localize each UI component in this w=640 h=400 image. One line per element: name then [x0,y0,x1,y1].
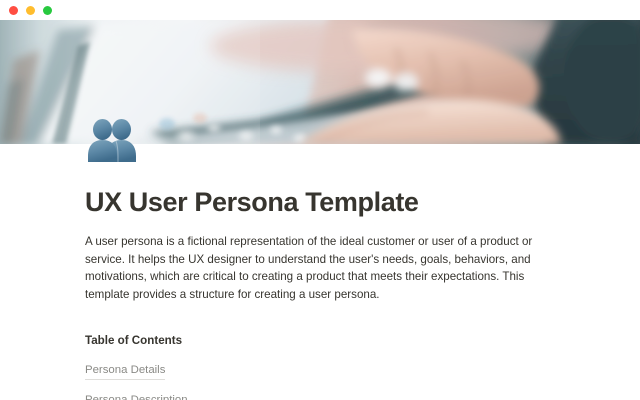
intro-paragraph: A user persona is a fictional representa… [85,233,555,303]
two-people-icon [85,118,139,162]
app-window: UX User Persona Template A user persona … [0,0,640,400]
close-button-icon[interactable] [9,6,18,15]
list-item: Persona Description [85,390,555,400]
maximize-button-icon[interactable] [43,6,52,15]
minimize-button-icon[interactable] [26,6,35,15]
table-of-contents-heading: Table of Contents [85,333,555,349]
toc-link-persona-details[interactable]: Persona Details [85,363,165,380]
window-controls [9,6,52,15]
page-title: UX User Persona Template [85,186,555,218]
document-content: UX User Persona Template A user persona … [0,144,640,400]
window-titlebar [0,0,640,20]
list-item: Persona Details [85,360,555,380]
toc-link-persona-description[interactable]: Persona Description [85,393,188,400]
table-of-contents-list: Persona Details Persona Description [85,360,555,400]
